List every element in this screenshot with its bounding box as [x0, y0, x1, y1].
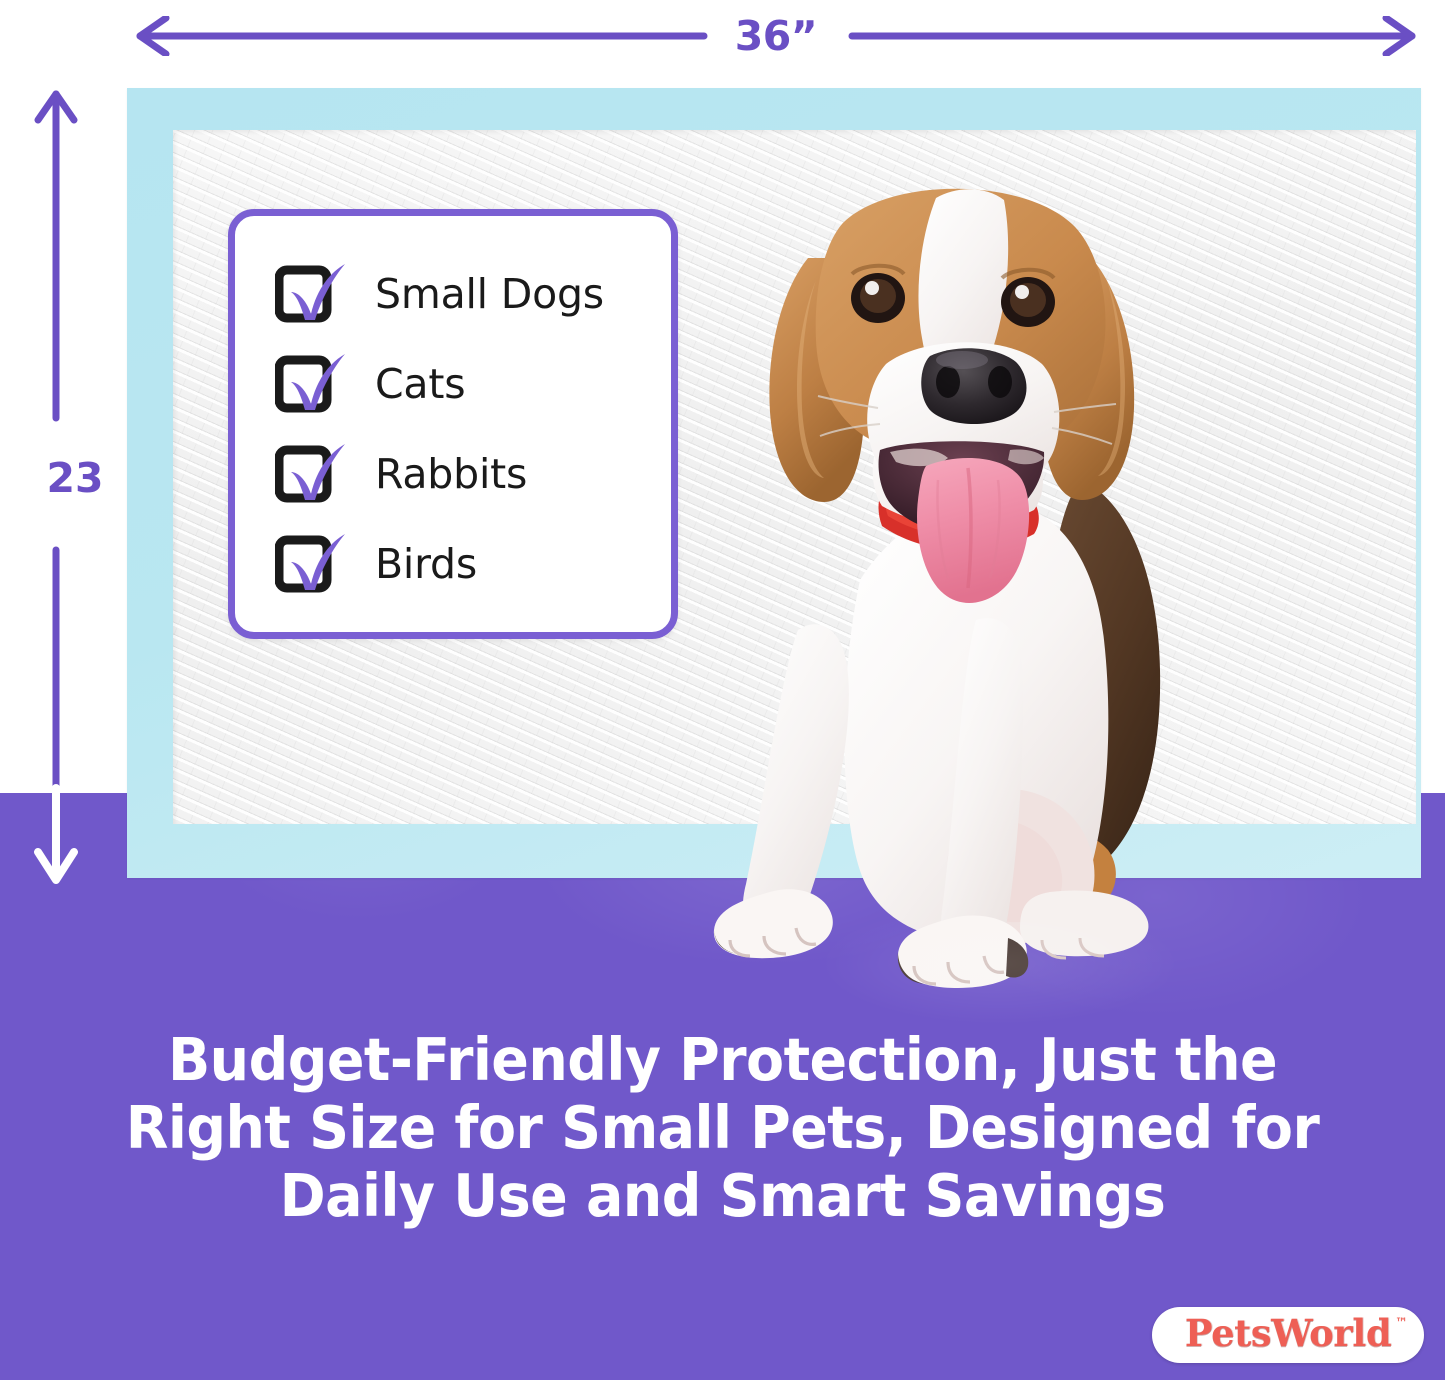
checklist-item-label: Small Dogs	[375, 270, 604, 318]
checklist-item-label: Rabbits	[375, 450, 527, 498]
checkbox-checked-icon[interactable]	[275, 262, 349, 326]
height-dimension: 23	[34, 88, 78, 888]
dog-photo	[690, 150, 1310, 990]
width-dimension: 36”	[134, 16, 1418, 56]
compatible-pets-checklist: Small Dogs Cats Rabbit	[228, 209, 678, 639]
trademark-symbol: ™	[1395, 1316, 1408, 1331]
checklist-items: Small Dogs Cats Rabbit	[275, 260, 653, 598]
checkbox-checked-icon[interactable]	[275, 532, 349, 596]
beagle-dog-illustration	[690, 150, 1310, 990]
list-item[interactable]: Cats	[275, 350, 653, 418]
brand-logo-text: PetsWorld	[1185, 1311, 1391, 1355]
list-item[interactable]: Birds	[275, 530, 653, 598]
checklist-item-label: Cats	[375, 360, 465, 408]
checkbox-checked-icon[interactable]	[275, 352, 349, 416]
brand-logo[interactable]: PetsWorld ™	[1152, 1307, 1424, 1363]
product-graphic-canvas: 36” 23	[0, 0, 1445, 1380]
width-label: 36”	[134, 16, 1418, 56]
checklist-item-label: Birds	[375, 540, 477, 588]
checkbox-checked-icon[interactable]	[275, 442, 349, 506]
marketing-headline: Budget-Friendly Protection, Just the Rig…	[100, 1026, 1346, 1230]
height-label: 23	[40, 456, 110, 500]
list-item[interactable]: Rabbits	[275, 440, 653, 508]
list-item[interactable]: Small Dogs	[275, 260, 653, 328]
